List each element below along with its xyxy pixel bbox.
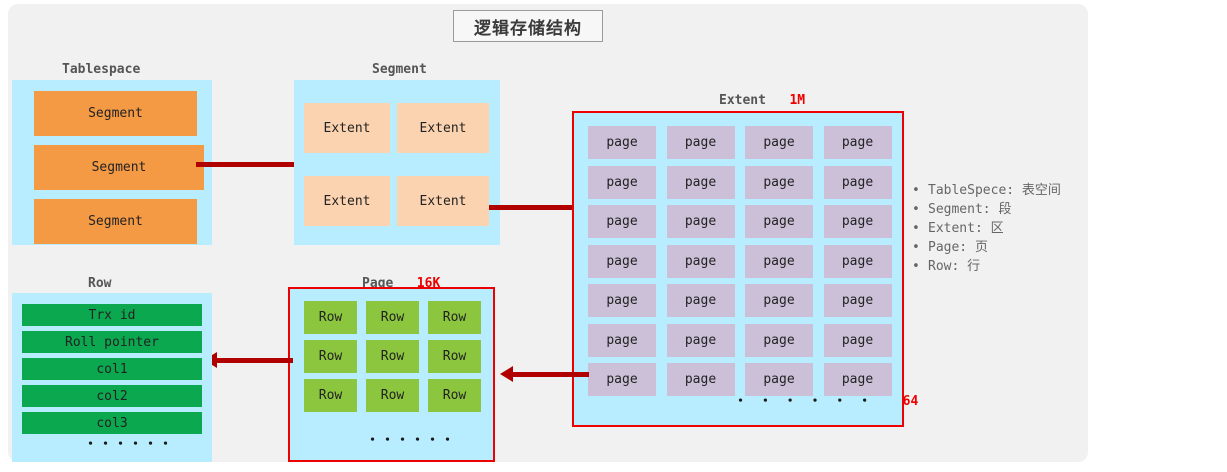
row-field-0-label: Trx id <box>89 308 136 323</box>
extent-page-11-label: page <box>842 214 873 229</box>
page-row-3[interactable]: Row <box>304 340 357 373</box>
tablespace-segment-1-label: Segment <box>92 160 147 175</box>
extent-page-15[interactable]: page <box>824 245 892 278</box>
arrow-tablespace-to-segment-line <box>196 162 299 167</box>
extent-page-23[interactable]: page <box>824 324 892 357</box>
extent-page-0-label: page <box>606 135 637 150</box>
page-row-7[interactable]: Row <box>366 379 419 412</box>
segment-extent-3-label: Extent <box>420 194 467 209</box>
extent-page-19-label: page <box>842 293 873 308</box>
extent-page-4[interactable]: page <box>588 166 656 199</box>
extent-page-23-label: page <box>842 333 873 348</box>
extent-container: ・ ・ ・ ・ ・ ・ 64 pagepagepagepagepagepagep… <box>572 111 904 427</box>
extent-page-17[interactable]: page <box>667 284 735 317</box>
extent-page-9-label: page <box>685 214 716 229</box>
extent-page-16-label: page <box>606 293 637 308</box>
extent-page-1-label: page <box>685 135 716 150</box>
page-row-1-label: Row <box>381 310 404 325</box>
extent-page-1[interactable]: page <box>667 126 735 159</box>
extent-page-10[interactable]: page <box>745 205 813 238</box>
arrow-extent-to-page-head <box>500 366 513 382</box>
extent-caption: Extent 1M <box>719 93 805 108</box>
page-row-3-label: Row <box>319 349 342 364</box>
extent-footer-count: 64 <box>903 394 919 409</box>
diagram-canvas: 逻辑存储结构 Tablespace Segment Segment Segmen… <box>0 0 1227 472</box>
page-row-7-label: Row <box>381 388 404 403</box>
segment-extent-3[interactable]: Extent <box>397 176 489 226</box>
extent-page-12[interactable]: page <box>588 245 656 278</box>
extent-page-5[interactable]: page <box>667 166 735 199</box>
extent-footer-dots: ・ ・ ・ ・ ・ ・ <box>734 394 873 409</box>
extent-size-label: 1M <box>789 93 805 108</box>
page-row-8-label: Row <box>443 388 466 403</box>
extent-page-25[interactable]: page <box>667 363 735 396</box>
legend-bullet-icon: • <box>912 200 928 219</box>
legend-item-4: • Row: 行 <box>912 257 1092 276</box>
extent-page-24-label: page <box>606 372 637 387</box>
extent-page-26-label: page <box>763 372 794 387</box>
extent-page-22-label: page <box>763 333 794 348</box>
segment-extent-0-label: Extent <box>324 121 371 136</box>
extent-page-3-label: page <box>842 135 873 150</box>
extent-caption-text: Extent <box>719 93 766 108</box>
extent-page-6[interactable]: page <box>745 166 813 199</box>
row-field-1[interactable]: Roll pointer <box>22 331 202 353</box>
segment-extent-1[interactable]: Extent <box>397 103 489 153</box>
extent-page-20[interactable]: page <box>588 324 656 357</box>
page-row-4[interactable]: Row <box>366 340 419 373</box>
extent-page-7[interactable]: page <box>824 166 892 199</box>
extent-page-7-label: page <box>842 175 873 190</box>
segment-extent-2[interactable]: Extent <box>304 176 390 226</box>
extent-page-16[interactable]: page <box>588 284 656 317</box>
extent-page-8-label: page <box>606 214 637 229</box>
extent-page-13[interactable]: page <box>667 245 735 278</box>
legend-bullet-icon: • <box>912 238 928 257</box>
legend-item-1: • Segment: 段 <box>912 200 1092 219</box>
page-row-0[interactable]: Row <box>304 301 357 334</box>
extent-page-8[interactable]: page <box>588 205 656 238</box>
row-field-4[interactable]: col3 <box>22 412 202 434</box>
tablespace-segment-2-label: Segment <box>88 214 143 229</box>
extent-page-14-label: page <box>763 254 794 269</box>
arrow-segment-to-extent-line <box>489 205 576 210</box>
tablespace-caption-text: Tablespace <box>62 62 140 77</box>
segment-caption: Segment <box>372 62 427 77</box>
tablespace-container: Segment Segment Segment <box>12 80 212 245</box>
row-caption: Row <box>88 276 111 291</box>
tablespace-segment-0[interactable]: Segment <box>34 91 197 136</box>
segment-container: Extent Extent Extent Extent <box>294 80 500 245</box>
extent-page-15-label: page <box>842 254 873 269</box>
page-row-5[interactable]: Row <box>428 340 481 373</box>
row-field-2-label: col1 <box>96 362 127 377</box>
legend-item-4-label: Row: 行 <box>928 257 980 276</box>
segment-extent-0[interactable]: Extent <box>304 103 390 153</box>
page-row-8[interactable]: Row <box>428 379 481 412</box>
page-row-6-label: Row <box>319 388 342 403</box>
legend-list: • TableSpece: 表空间 • Segment: 段 • Extent:… <box>912 181 1092 276</box>
extent-page-20-label: page <box>606 333 637 348</box>
legend-bullet-icon: • <box>912 181 928 200</box>
extent-page-6-label: page <box>763 175 794 190</box>
page-footer-dots: ・・・・・・ <box>366 429 456 448</box>
row-field-3-label: col2 <box>96 389 127 404</box>
extent-page-24[interactable]: page <box>588 363 656 396</box>
extent-page-27[interactable]: page <box>824 363 892 396</box>
arrow-extent-to-page-line <box>511 372 589 377</box>
extent-page-25-label: page <box>685 372 716 387</box>
extent-page-21-label: page <box>685 333 716 348</box>
row-field-0[interactable]: Trx id <box>22 304 202 326</box>
tablespace-segment-2[interactable]: Segment <box>34 199 197 244</box>
diagram-title: 逻辑存储结构 <box>453 10 603 42</box>
extent-page-27-label: page <box>842 372 873 387</box>
segment-extent-2-label: Extent <box>324 194 371 209</box>
row-field-1-label: Roll pointer <box>65 335 159 350</box>
tablespace-caption: Tablespace <box>62 62 140 77</box>
extent-page-5-label: page <box>685 175 716 190</box>
extent-page-12-label: page <box>606 254 637 269</box>
extent-page-19[interactable]: page <box>824 284 892 317</box>
extent-page-10-label: page <box>763 214 794 229</box>
row-field-2[interactable]: col1 <box>22 358 202 380</box>
extent-page-14[interactable]: page <box>745 245 813 278</box>
extent-page-2-label: page <box>763 135 794 150</box>
page-row-6[interactable]: Row <box>304 379 357 412</box>
extent-page-9[interactable]: page <box>667 205 735 238</box>
legend-bullet-icon: • <box>912 219 928 238</box>
page-row-1[interactable]: Row <box>366 301 419 334</box>
extent-page-2[interactable]: page <box>745 126 813 159</box>
legend-item-3-label: Page: 页 <box>928 238 988 257</box>
legend-item-3: • Page: 页 <box>912 238 1092 257</box>
diagram-title-text: 逻辑存储结构 <box>474 14 582 39</box>
page-row-4-label: Row <box>381 349 404 364</box>
row-footer-dots: ・・・・・・ <box>84 433 174 452</box>
legend-item-0-label: TableSpece: 表空间 <box>928 181 1061 200</box>
arrow-page-to-row-line <box>215 358 293 363</box>
tablespace-segment-1[interactable]: Segment <box>34 145 204 190</box>
row-container: ・・・・・・ Trx idRoll pointercol1col2col3 <box>12 293 212 462</box>
extent-page-13-label: page <box>685 254 716 269</box>
page-row-5-label: Row <box>443 349 466 364</box>
extent-page-18[interactable]: page <box>745 284 813 317</box>
legend-item-0: • TableSpece: 表空间 <box>912 181 1092 200</box>
legend-item-1-label: Segment: 段 <box>928 200 1011 219</box>
extent-page-18-label: page <box>763 293 794 308</box>
extent-page-11[interactable]: page <box>824 205 892 238</box>
page-row-2[interactable]: Row <box>428 301 481 334</box>
extent-page-4-label: page <box>606 175 637 190</box>
extent-page-3[interactable]: page <box>824 126 892 159</box>
row-field-3[interactable]: col2 <box>22 385 202 407</box>
row-field-4-label: col3 <box>96 416 127 431</box>
segment-caption-text: Segment <box>372 62 427 77</box>
extent-page-17-label: page <box>685 293 716 308</box>
extent-page-21[interactable]: page <box>667 324 735 357</box>
legend-bullet-icon: • <box>912 257 928 276</box>
tablespace-segment-0-label: Segment <box>88 106 143 121</box>
page-row-2-label: Row <box>443 310 466 325</box>
row-caption-text: Row <box>88 276 111 291</box>
legend-item-2: • Extent: 区 <box>912 219 1092 238</box>
legend-item-2-label: Extent: 区 <box>928 219 1004 238</box>
extent-page-26[interactable]: page <box>745 363 813 396</box>
extent-page-0[interactable]: page <box>588 126 656 159</box>
page-row-0-label: Row <box>319 310 342 325</box>
page-container: ・・・・・・ RowRowRowRowRowRowRowRowRow <box>288 287 495 462</box>
extent-page-22[interactable]: page <box>745 324 813 357</box>
segment-extent-1-label: Extent <box>420 121 467 136</box>
